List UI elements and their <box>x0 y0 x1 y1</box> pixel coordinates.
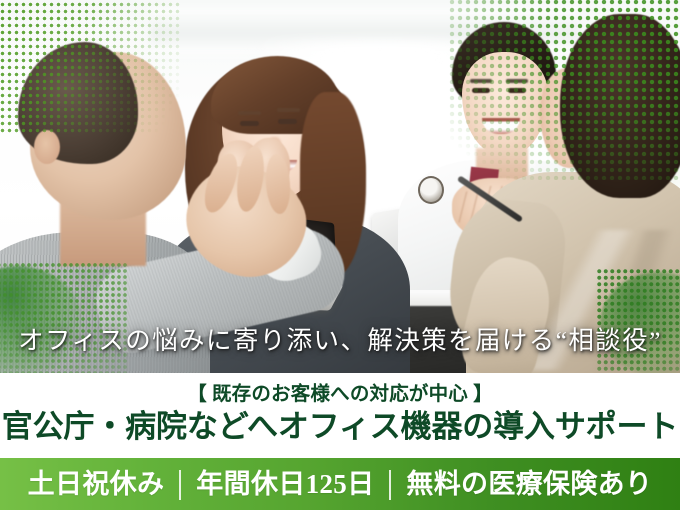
woman-left-brow-right <box>277 108 300 112</box>
condition-divider-1 <box>179 470 181 500</box>
man-right-eye-right <box>508 88 526 93</box>
wristwatch <box>418 176 444 204</box>
man-right-brow-right <box>506 79 528 83</box>
catch-copy: オフィスの悩みに寄り添い、解決策を届ける“相談役” <box>0 328 680 354</box>
headline-block: 【 既存のお客様への対応が中心 】 官公庁・病院などへオフィス機器の導入サポート <box>0 373 680 458</box>
woman-left-eye-right <box>278 119 297 124</box>
condition-item-annual-holidays: 年間休日125日 <box>194 471 376 498</box>
conditions-list: 土日祝休み 年間休日125日 無料の医療保険あり <box>26 469 655 499</box>
condition-divider-2 <box>389 470 391 500</box>
man-left-ear <box>34 130 60 164</box>
main-headline: 官公庁・病院などへオフィス機器の導入サポート <box>0 411 680 442</box>
woman-right-hair <box>560 14 680 198</box>
recruitment-banner: オフィスの悩みに寄り添い、解決策を届ける“相談役” 【 既存のお客様への対応が中… <box>0 0 680 510</box>
sub-headline: 【 既存のお客様への対応が中心 】 <box>0 385 680 405</box>
condition-item-holidays: 土日祝休み <box>26 471 167 498</box>
hero-photo: オフィスの悩みに寄り添い、解決策を届ける“相談役” <box>0 0 680 373</box>
man-right-eye-left <box>472 88 490 93</box>
man-right-brow-left <box>470 79 492 83</box>
woman-left-eye-left <box>240 121 259 126</box>
woman-left-brow-left <box>238 111 261 115</box>
conditions-bar: 土日祝休み 年間休日125日 無料の医療保険あり <box>0 458 680 510</box>
condition-item-insurance: 無料の医療保険あり <box>404 471 654 498</box>
